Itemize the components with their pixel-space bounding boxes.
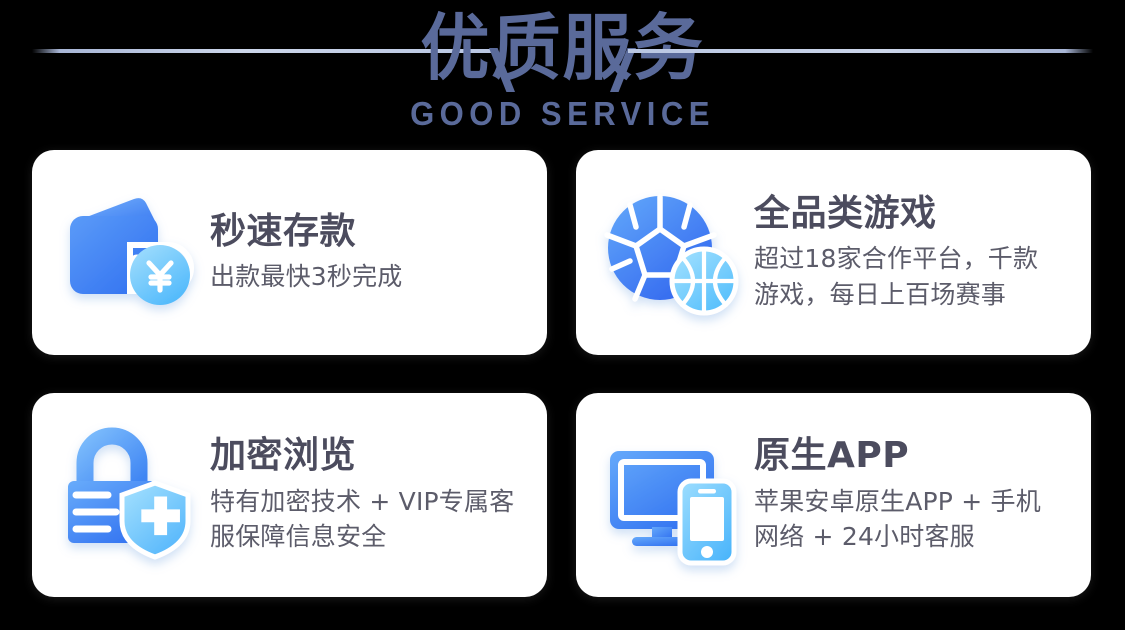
feature-card-desc: 超过18家合作平台，千款 游戏，每日上百场赛事 [754,241,1065,312]
feature-card-encryption[interactable]: 加密浏览 特有加密技术 + VIP专属客 服保障信息安全 [32,393,547,597]
wallet-yen-icon [60,183,208,323]
soccer-basketball-icon [604,183,752,323]
feature-card-native-app[interactable]: 原生APP 苹果安卓原生APP + 手机 网络 + 24小时客服 [576,393,1091,597]
feature-card-text: 原生APP 苹果安卓原生APP + 手机 网络 + 24小时客服 [752,435,1065,554]
page-subtitle: GOOD SERVICE [0,95,1125,134]
feature-card-text: 全品类游戏 超过18家合作平台，千款 游戏，每日上百场赛事 [752,193,1065,312]
feature-card-desc-line: 网络 + 24小时客服 [754,519,1065,555]
feature-card-desc-line: 游戏，每日上百场赛事 [754,277,1065,313]
feature-card-games[interactable]: 全品类游戏 超过18家合作平台，千款 游戏，每日上百场赛事 [576,150,1091,355]
feature-card-desc-line: 特有加密技术 + VIP专属客 [210,484,521,520]
feature-card-title: 全品类游戏 [754,193,1065,235]
feature-card-title: 秒速存款 [210,211,521,253]
feature-card-text: 加密浏览 特有加密技术 + VIP专属客 服保障信息安全 [208,435,521,554]
feature-card-desc-line: 服保障信息安全 [210,519,521,555]
feature-card-desc: 特有加密技术 + VIP专属客 服保障信息安全 [210,484,521,555]
feature-card-desc: 苹果安卓原生APP + 手机 网络 + 24小时客服 [754,484,1065,555]
feature-card-grid: 秒速存款 出款最快3秒完成 [32,150,1093,597]
feature-card-deposit[interactable]: 秒速存款 出款最快3秒完成 [32,150,547,355]
header-rule-right [628,49,1093,53]
feature-card-desc-line: 超过18家合作平台，千款 [754,241,1065,277]
feature-card-title: 原生APP [754,435,1065,477]
page-header: 优质服务 GOOD SERVICE [0,0,1125,140]
monitor-phone-icon [604,425,752,565]
feature-card-text: 秒速存款 出款最快3秒完成 [208,211,521,295]
feature-card-title: 加密浏览 [210,435,521,477]
feature-card-desc-line: 苹果安卓原生APP + 手机 [754,484,1065,520]
feature-card-desc-line: 出款最快3秒完成 [210,259,521,295]
lock-shield-icon [60,425,208,565]
feature-card-desc: 出款最快3秒完成 [210,259,521,295]
